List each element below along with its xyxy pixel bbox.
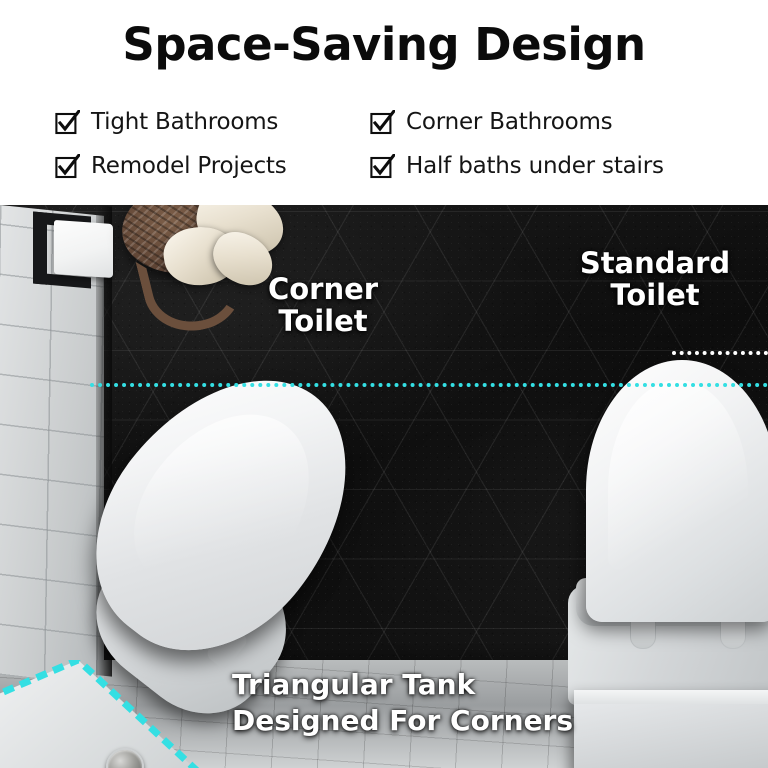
feature-list-left: Tight Bathrooms Remodel Projects xyxy=(55,100,287,188)
cyan-dotted-height-line xyxy=(90,383,768,387)
list-item-label: Half baths under stairs xyxy=(406,153,664,179)
checkbox-checked-icon xyxy=(370,110,395,135)
label-standard-toilet-line1: Standard xyxy=(570,247,740,279)
page-title: Space-Saving Design xyxy=(0,18,768,71)
label-standard-toilet-line2: Toilet xyxy=(570,279,740,311)
checkbox-checked-icon xyxy=(370,154,395,179)
label-corner-toilet: Corner Toilet xyxy=(258,273,388,338)
label-tank-line1: Triangular Tank xyxy=(232,667,582,703)
white-dotted-height-line xyxy=(672,351,768,355)
list-item: Half baths under stairs xyxy=(370,144,664,188)
list-item-label: Tight Bathrooms xyxy=(91,109,278,135)
list-item-label: Corner Bathrooms xyxy=(406,109,612,135)
toilet-paper-roll xyxy=(54,220,113,278)
header-panel: Space-Saving Design Tight Bathrooms xyxy=(0,0,768,205)
list-item: Remodel Projects xyxy=(55,144,287,188)
standard-toilet-base-top xyxy=(574,690,768,704)
seat-hinge xyxy=(630,622,656,649)
feature-list-right: Corner Bathrooms Half baths under stairs xyxy=(370,100,664,188)
product-photo: Corner Toilet Standard Toilet Triangular… xyxy=(0,205,768,768)
list-item-label: Remodel Projects xyxy=(91,153,287,179)
checkbox-checked-icon xyxy=(55,154,80,179)
seat-hinge xyxy=(720,622,746,649)
label-corner-toilet-line2: Toilet xyxy=(258,305,388,337)
standard-toilet xyxy=(568,360,768,768)
list-item: Tight Bathrooms xyxy=(55,100,287,144)
label-triangular-tank: Triangular Tank Designed For Corners xyxy=(232,667,582,739)
checkbox-checked-icon xyxy=(55,110,80,135)
label-tank-line2: Designed For Corners xyxy=(232,703,582,739)
infographic-page: Space-Saving Design Tight Bathrooms xyxy=(0,0,768,768)
label-standard-toilet: Standard Toilet xyxy=(570,247,740,312)
list-item: Corner Bathrooms xyxy=(370,100,664,144)
label-corner-toilet-line1: Corner xyxy=(258,273,388,305)
